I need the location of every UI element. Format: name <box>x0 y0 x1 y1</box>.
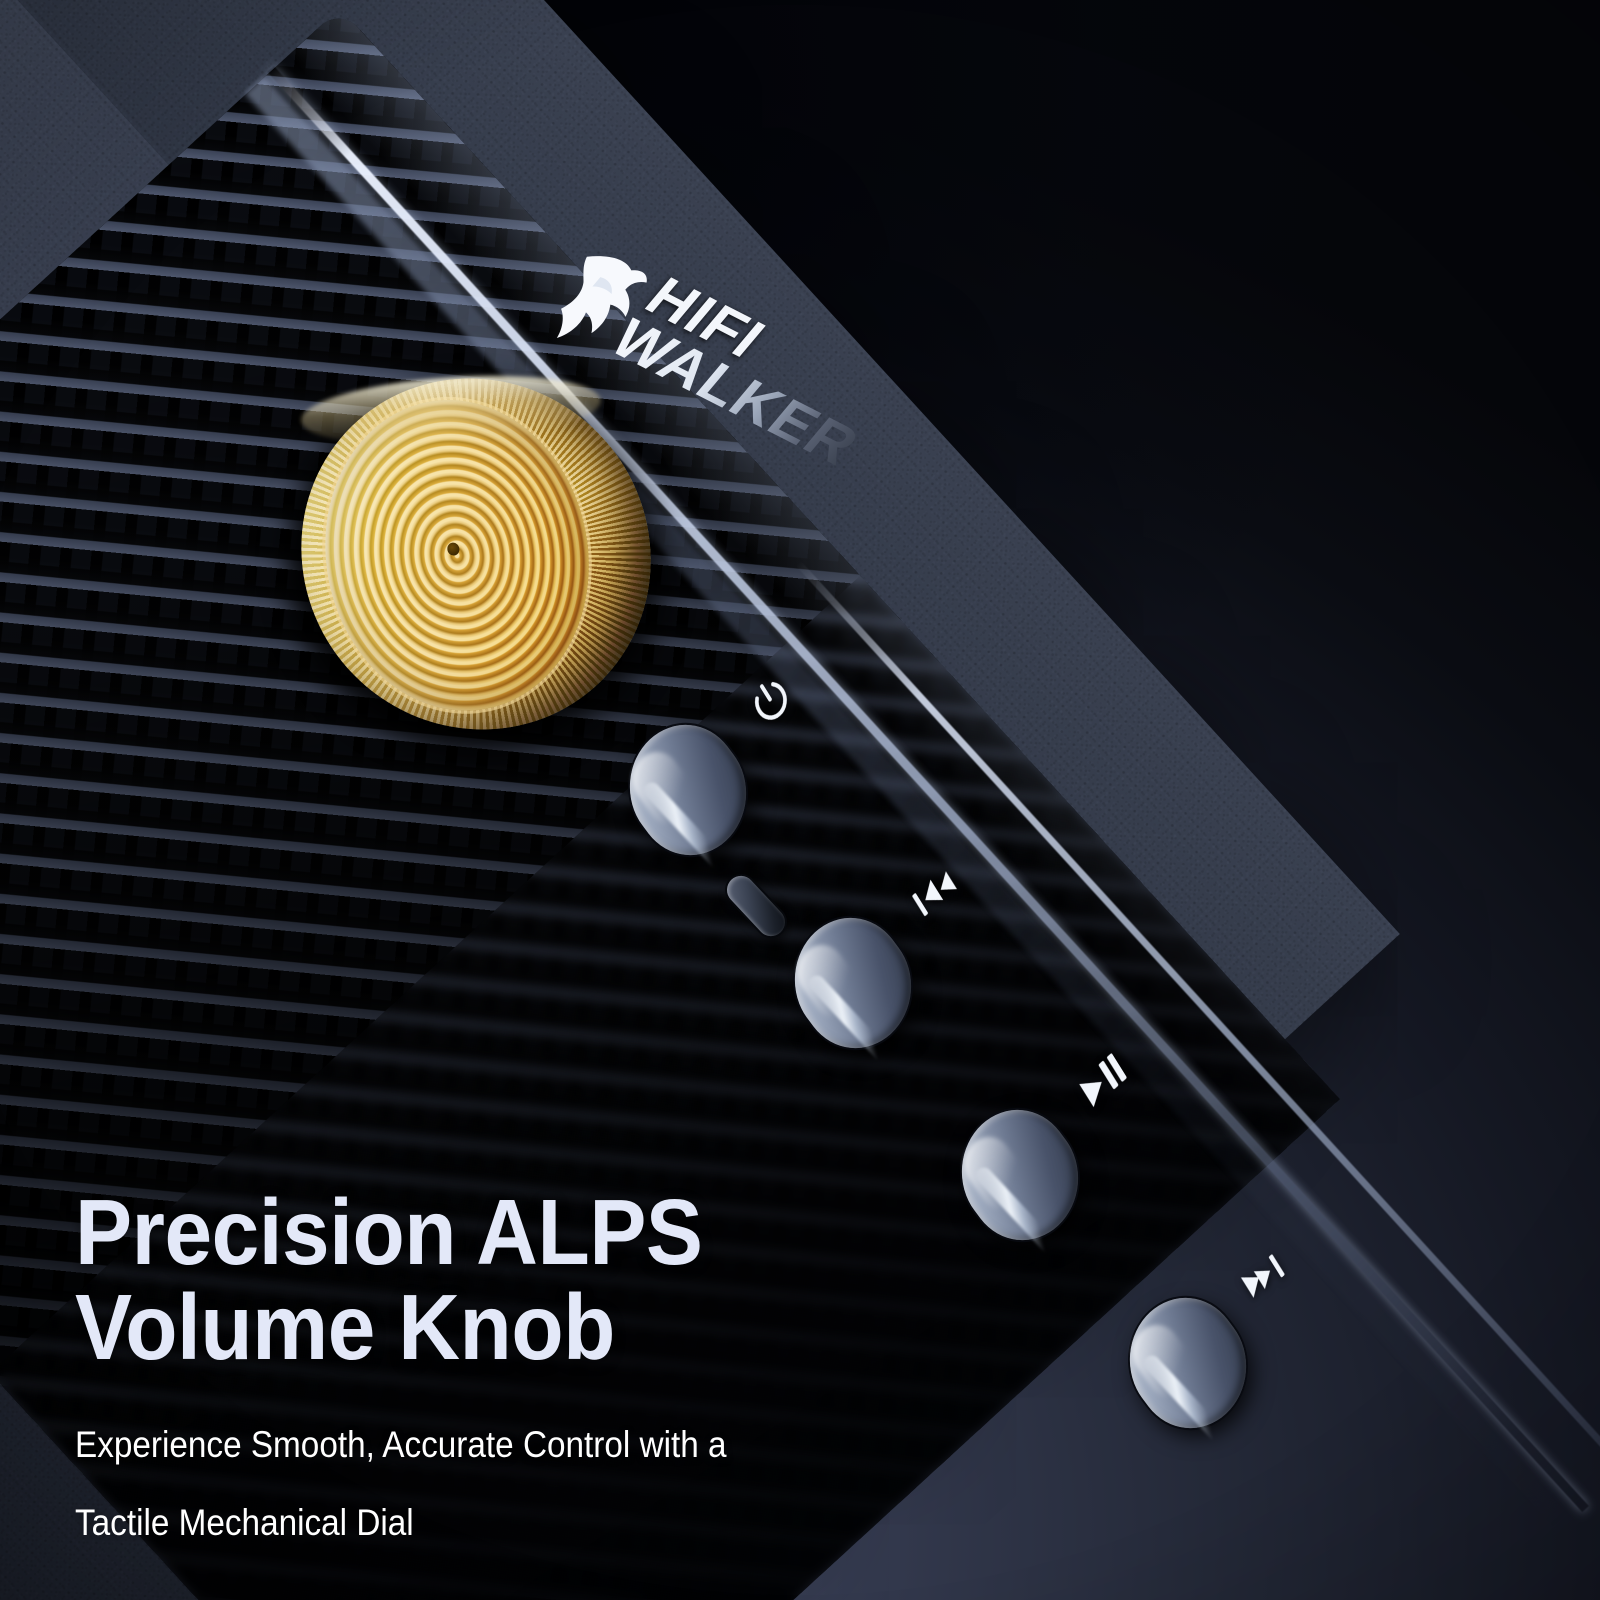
marketing-copy: Precision ALPS Volume Knob Experience Sm… <box>75 1185 1075 1559</box>
product-hero-image: HIFI WALKER <box>0 0 1600 1600</box>
headline-line2: Volume Knob <box>75 1280 995 1375</box>
subtitle-line1: Experience Smooth, Accurate Control with… <box>75 1409 975 1481</box>
subtitle-line2: Tactile Mechanical Dial <box>75 1487 975 1559</box>
headline-line1: Precision ALPS <box>75 1185 995 1280</box>
